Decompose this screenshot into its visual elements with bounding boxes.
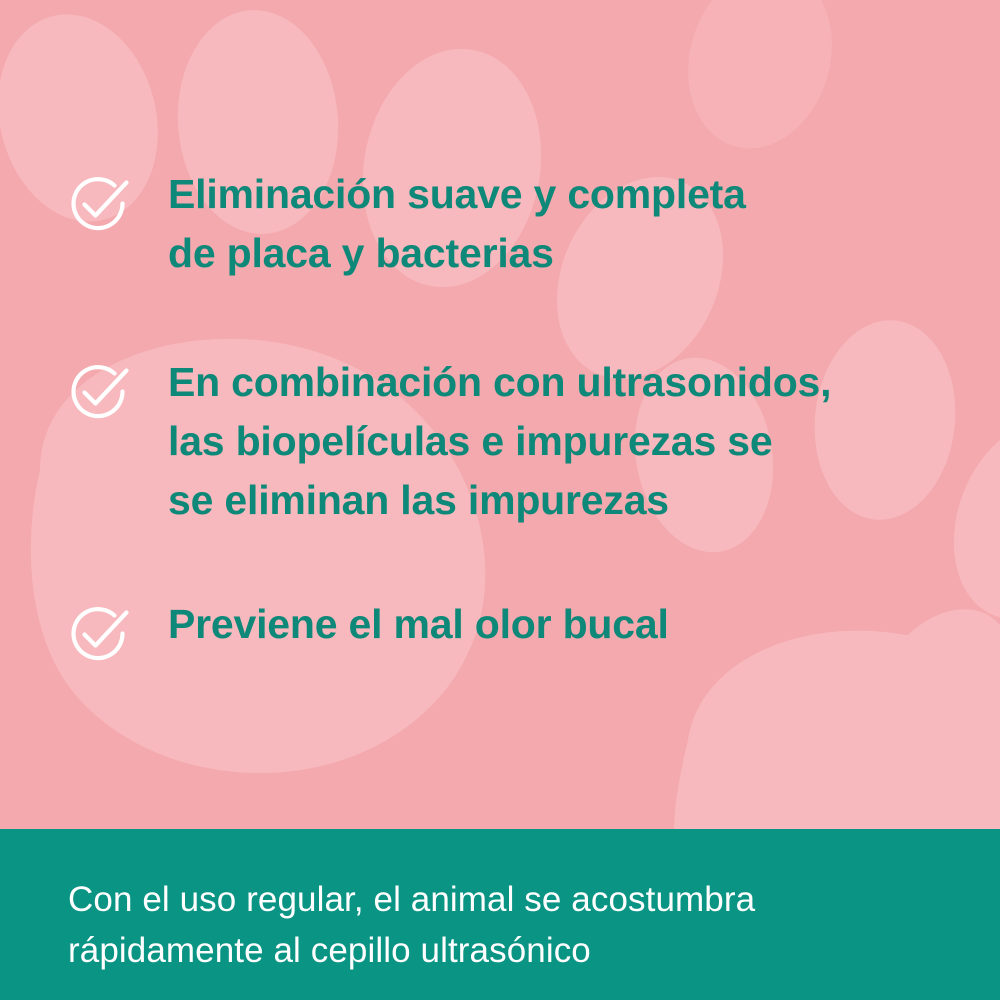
check-circle-icon bbox=[62, 356, 134, 428]
benefit-item-3: Previene el mal olor bucal bbox=[62, 598, 669, 670]
benefit-text: En combinación con ultrasonidos, las bio… bbox=[168, 353, 831, 530]
benefit-item-2: En combinación con ultrasonidos, las bio… bbox=[62, 356, 831, 530]
benefits-list: Eliminación suave y completa de placa y … bbox=[0, 0, 1000, 829]
benefit-item-1: Eliminación suave y completa de placa y … bbox=[62, 168, 746, 283]
promo-banner: Eliminación suave y completa de placa y … bbox=[0, 0, 1000, 1000]
benefit-text: Previene el mal olor bucal bbox=[168, 595, 669, 654]
benefit-text: Eliminación suave y completa de placa y … bbox=[168, 165, 746, 283]
check-circle-icon bbox=[62, 168, 134, 240]
footer-message: Con el uso regular, el animal se acostum… bbox=[68, 874, 968, 976]
check-circle-icon bbox=[62, 598, 134, 670]
benefits-panel: Eliminación suave y completa de placa y … bbox=[0, 0, 1000, 829]
footer-band: Con el uso regular, el animal se acostum… bbox=[0, 829, 1000, 1000]
